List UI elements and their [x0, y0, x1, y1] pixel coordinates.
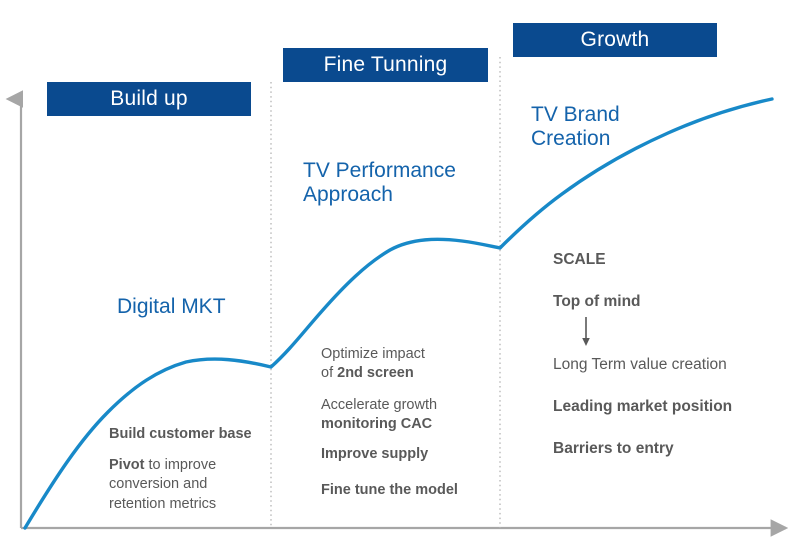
note-top-of-mind: Top of mind — [553, 292, 641, 313]
note-pivot-bold-prefix: Pivot — [109, 457, 144, 473]
growth-stages-diagram: Build up Fine Tunning Growth Digital MKT… — [0, 0, 800, 543]
note-leading-market-position: Leading market position — [553, 397, 732, 418]
note-scale: SCALE — [553, 250, 606, 271]
phase-banner-fine-tunning[interactable]: Fine Tunning — [283, 48, 488, 82]
note-build-customer-base: Build customer base — [109, 425, 252, 444]
down-arrow-icon — [578, 317, 594, 347]
heading-tv-performance-approach: TV Performance Approach — [303, 159, 456, 206]
heading-tv-brand-creation: TV Brand Creation — [531, 103, 620, 150]
note-accelerate-bold: monitoring CAC — [321, 416, 432, 432]
note-fine-tune-the-model: Fine tune the model — [321, 481, 458, 500]
heading-digital-mkt: Digital MKT — [117, 295, 226, 319]
phase-banner-build-up-label: Build up — [110, 87, 188, 111]
phase-banner-growth-label: Growth — [581, 28, 650, 52]
note-long-term-value-creation: Long Term value creation — [553, 355, 727, 376]
note-accelerate-growth: Accelerate growth monitoring CAC — [321, 396, 437, 435]
note-barriers-to-entry: Barriers to entry — [553, 439, 674, 460]
note-optimize-bold: 2nd screen — [337, 365, 414, 381]
note-accelerate-lead: Accelerate growth — [321, 397, 437, 413]
note-improve-supply: Improve supply — [321, 445, 428, 464]
phase-banner-growth[interactable]: Growth — [513, 23, 717, 57]
note-optimize-2nd-screen: Optimize impact of 2nd screen — [321, 345, 425, 384]
note-pivot: Pivot to improve conversion and retentio… — [109, 456, 259, 514]
phase-banner-build-up[interactable]: Build up — [47, 82, 251, 116]
phase-banner-fine-tunning-label: Fine Tunning — [324, 53, 448, 77]
